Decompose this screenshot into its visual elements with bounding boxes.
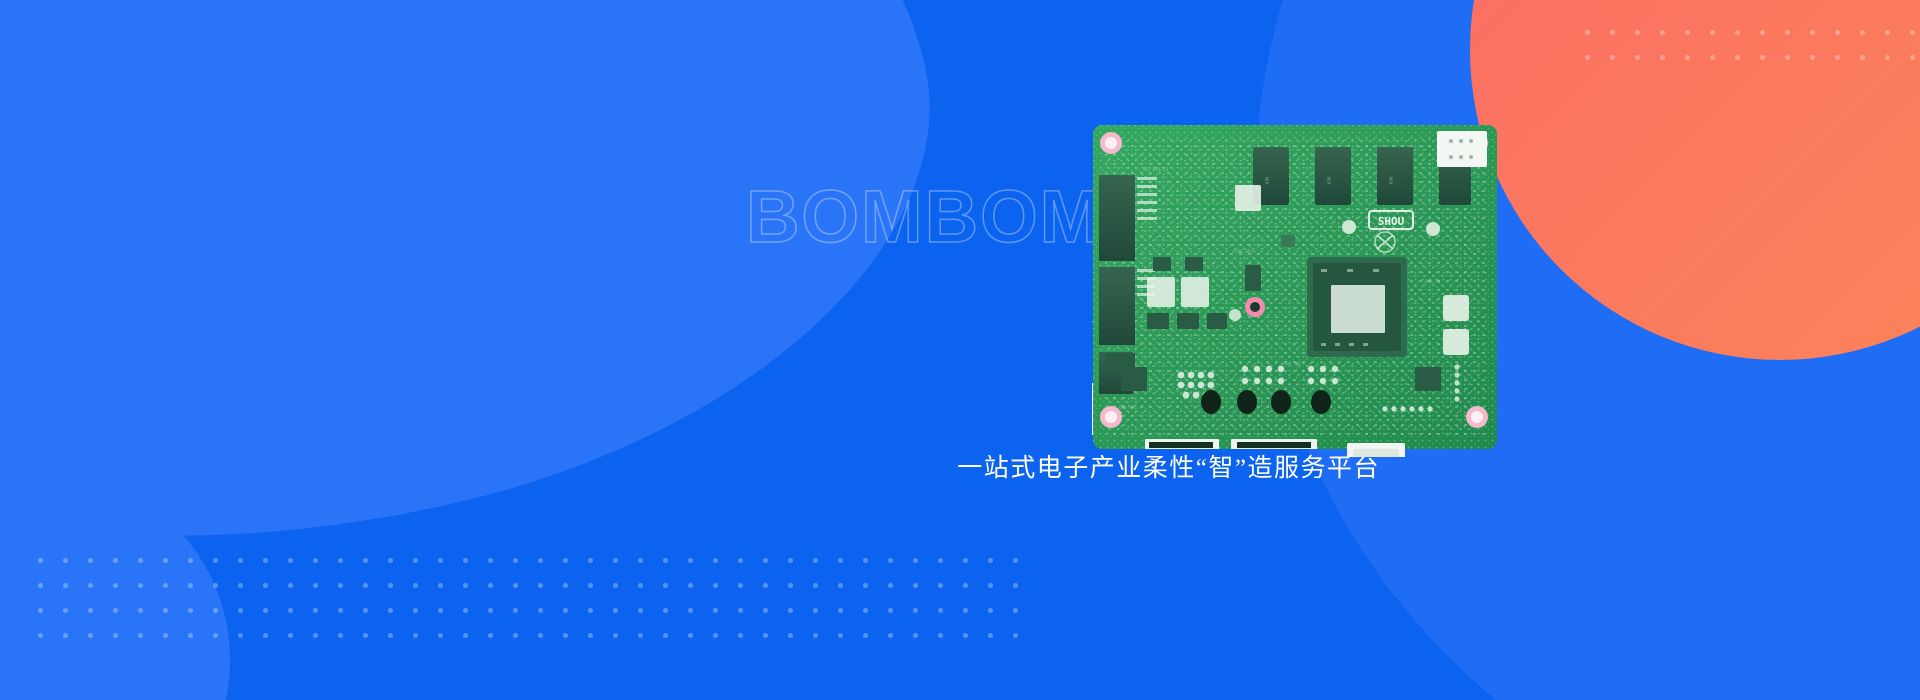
dot-grid-top-right-icon [1575, 20, 1920, 70]
svg-text:MEM: MEM [1326, 177, 1331, 185]
svg-text:U12 R44 C7: U12 R44 C7 [1143, 167, 1169, 172]
svg-text:CN3 JP2: CN3 JP2 [1235, 249, 1253, 254]
svg-text:PWR IN: PWR IN [1425, 279, 1441, 284]
svg-text:LED1 SW2: LED1 SW2 [1281, 361, 1302, 366]
pcb-board-image: MEM MEM MEM [1085, 117, 1505, 457]
pcb-board-svg: MEM MEM MEM [1085, 117, 1505, 457]
pcb-components: MEM MEM MEM [1093, 125, 1497, 451]
card-slot-connector [1437, 131, 1487, 167]
svg-text:SHOU: SHOU [1378, 215, 1405, 228]
svg-text:MEM: MEM [1388, 177, 1393, 185]
svg-text:GND VCC: GND VCC [1119, 405, 1137, 410]
svg-text:MEM: MEM [1264, 177, 1269, 185]
promo-banner: BOMBOM 一分钟 快速报价 快速获取报价信息 一站式电子产业柔性“智”造服务… [0, 0, 1920, 700]
